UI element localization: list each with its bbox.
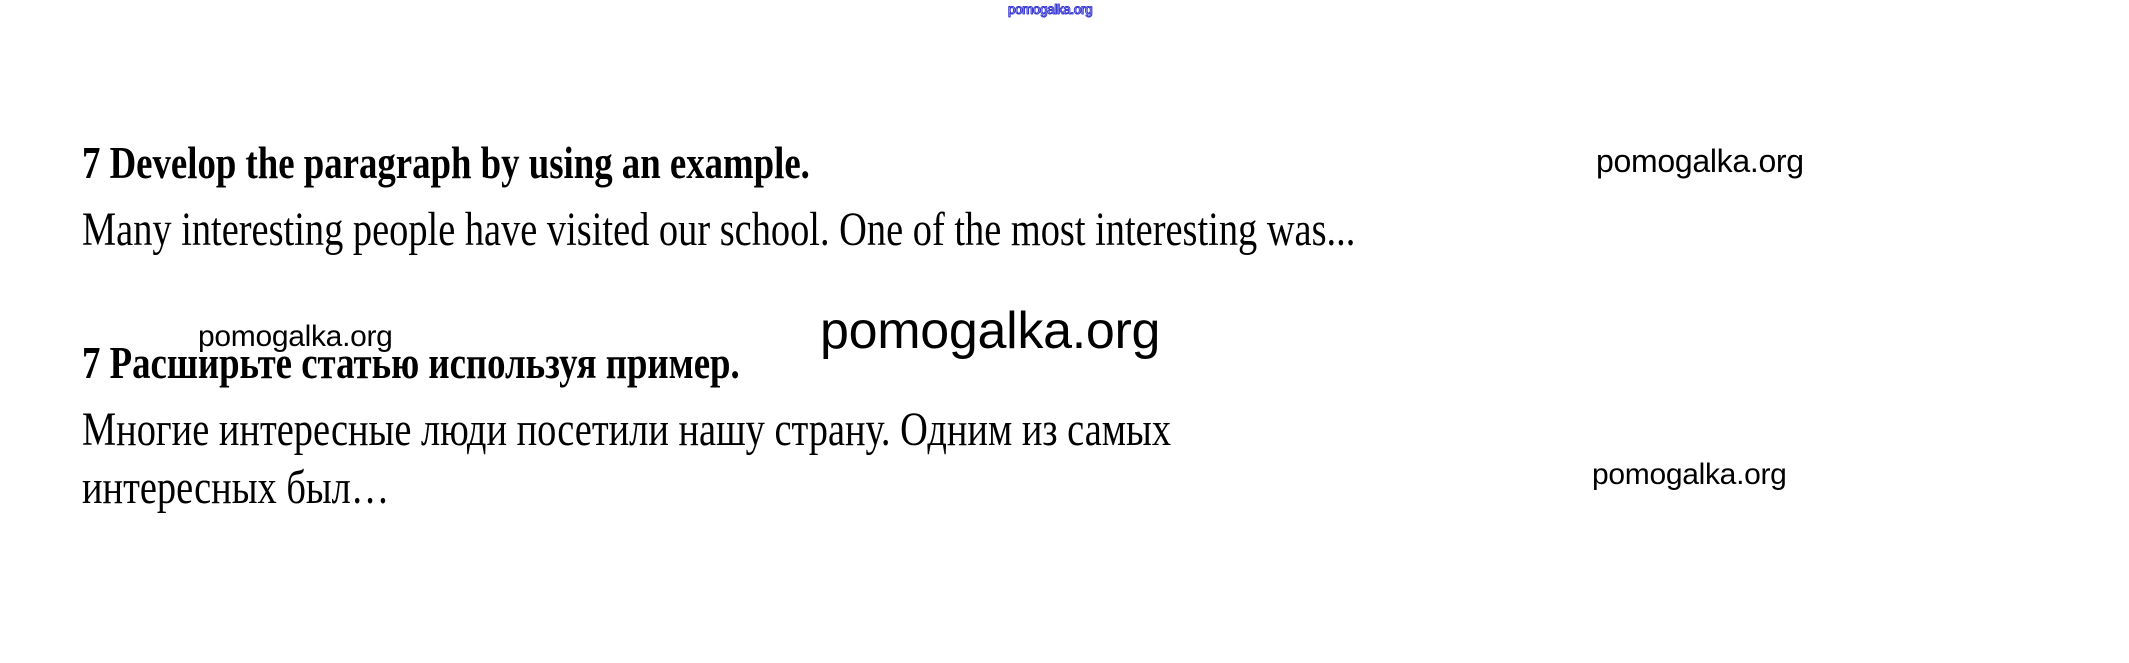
watermark-right-top: pomogalka.org	[1596, 145, 1804, 177]
russian-exercise-body-line-1: Многие интересные люди посетили нашу стр…	[82, 406, 1171, 454]
english-exercise-heading: 7 Develop the paragraph by using an exam…	[82, 140, 810, 186]
watermark-top-center: pomogalka.org	[1008, 2, 1092, 16]
russian-exercise-body-line-2: интересных был…	[82, 464, 389, 512]
watermark-center-large: pomogalka.org	[820, 305, 1160, 357]
russian-exercise-heading: 7 Расширьте статью используя пример.	[82, 340, 740, 386]
watermark-right-bottom: pomogalka.org	[1592, 460, 1787, 490]
english-exercise-body: Many interesting people have visited our…	[82, 206, 1355, 254]
document-page: pomogalka.org 7 Develop the paragraph by…	[0, 0, 2129, 663]
